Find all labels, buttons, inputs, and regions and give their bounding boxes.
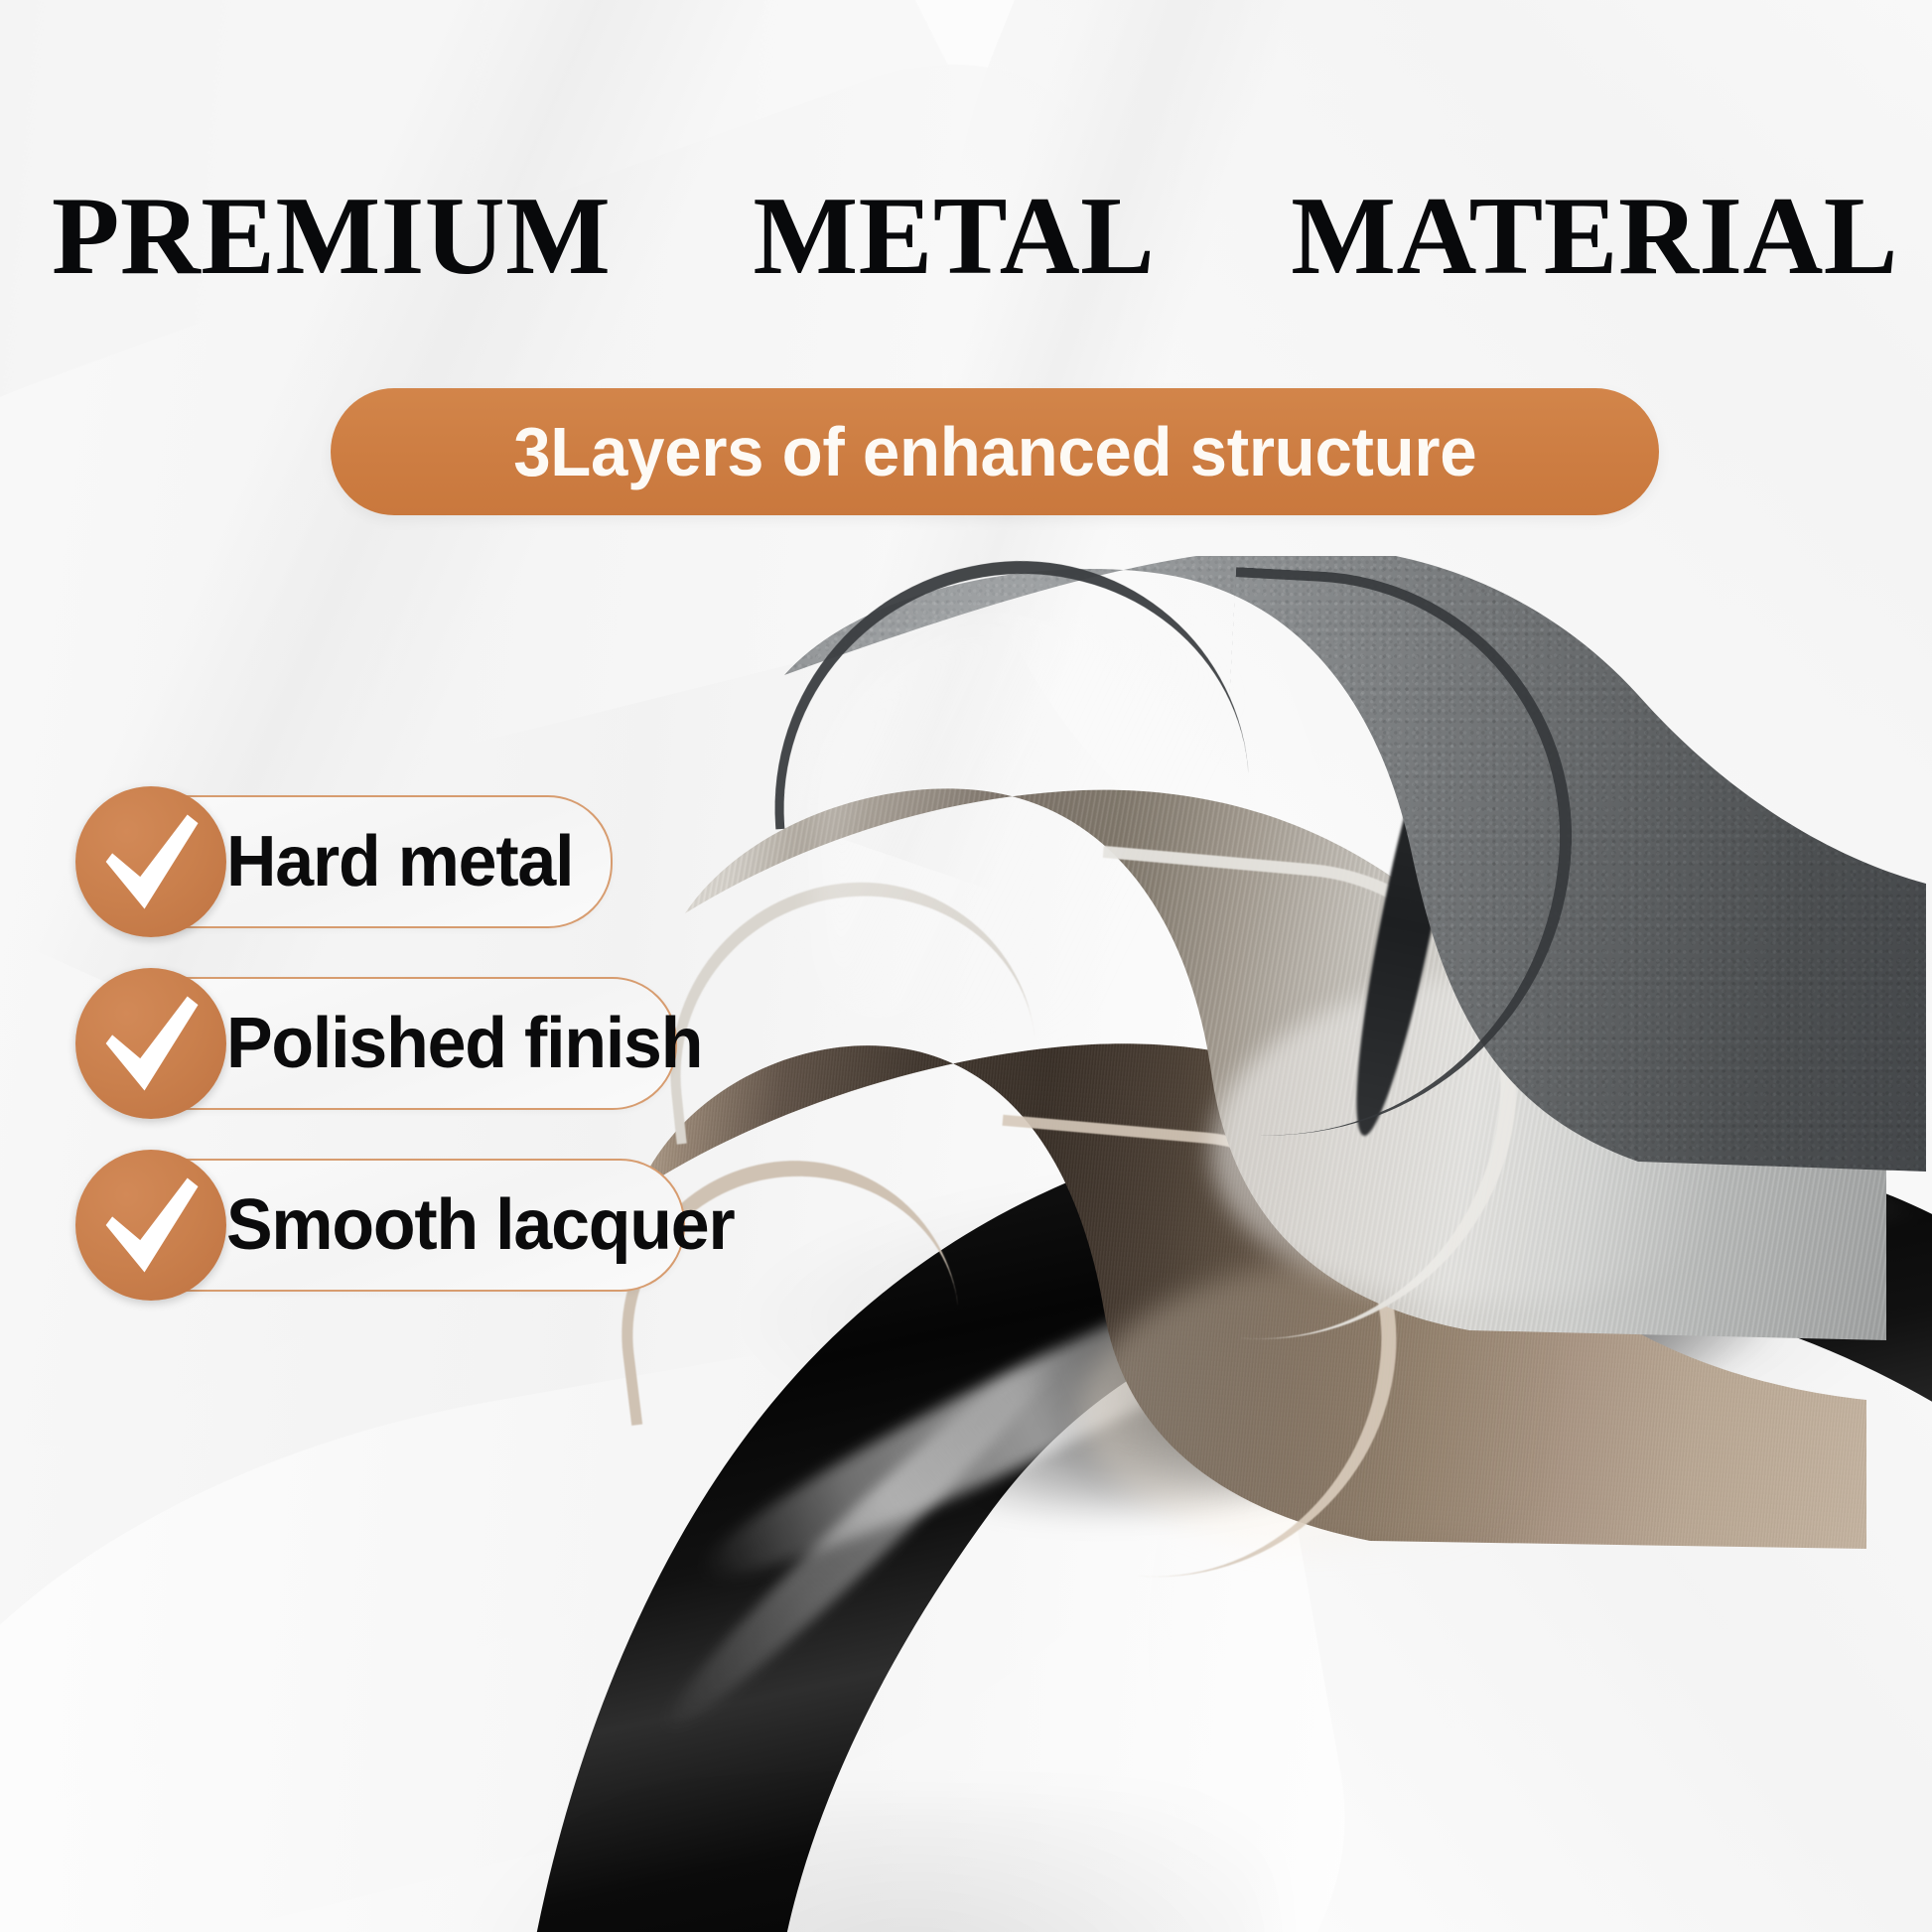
- feature-badge: [75, 1150, 226, 1301]
- checkmark-icon: [97, 992, 205, 1095]
- page-title: PREMIUM METAL MATERIAL: [52, 182, 1898, 291]
- top-sheet-highlight: [814, 616, 1241, 1033]
- feature-label: Hard metal: [226, 797, 573, 926]
- feature-label: Smooth lacquer: [226, 1161, 734, 1290]
- feature-label: Polished finish: [226, 979, 702, 1108]
- tube-ground-shadow: [477, 1797, 1271, 1932]
- feature-pill-smooth-lacquer: Smooth lacquer: [77, 1159, 685, 1292]
- feature-pill-hard-metal: Hard metal: [77, 795, 613, 928]
- feature-badge: [75, 786, 226, 937]
- subtitle-banner: 3Layers of enhanced structure: [331, 388, 1659, 515]
- feature-badge: [75, 968, 226, 1119]
- checkmark-icon: [97, 1173, 205, 1277]
- top-sheet-layer: [745, 556, 1926, 1172]
- subtitle-banner-text: 3Layers of enhanced structure: [513, 417, 1476, 486]
- product-feature-poster: PREMIUM METAL MATERIAL 3Layers of enhanc…: [0, 0, 1932, 1932]
- product-image: [596, 556, 1932, 1932]
- checkmark-icon: [97, 810, 205, 913]
- feature-pill-polished-finish: Polished finish: [77, 977, 677, 1110]
- page-title-text: PREMIUM METAL MATERIAL: [52, 182, 1898, 291]
